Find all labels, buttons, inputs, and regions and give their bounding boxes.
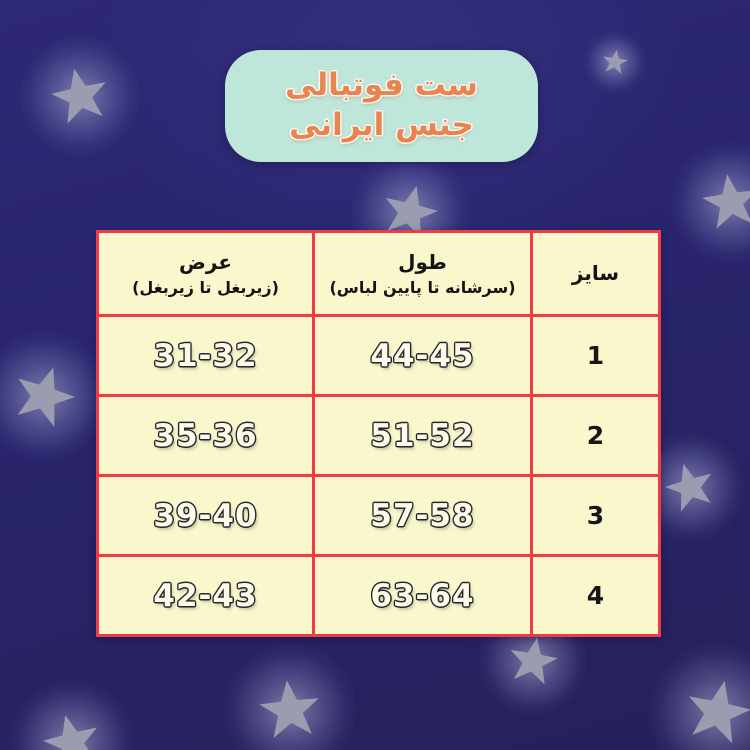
column-header-width-note: (زیربغل تا زیربغل) xyxy=(99,277,312,299)
star-icon xyxy=(10,680,134,750)
cell-length: 57-58 xyxy=(314,476,532,556)
cell-length: 44-45 xyxy=(314,316,532,396)
cell-width: 35-36 xyxy=(98,396,314,476)
star-shape xyxy=(46,62,115,131)
star-glow xyxy=(224,644,356,750)
star-icon xyxy=(0,331,109,461)
cell-width: 39-40 xyxy=(98,476,314,556)
cell-width: 42-43 xyxy=(98,556,314,636)
star-icon xyxy=(20,36,140,156)
table-header-row: سایز طول (سرشانه تا پایین لباس) عرض (زیر… xyxy=(98,232,660,316)
column-header-length: طول (سرشانه تا پایین لباس) xyxy=(314,232,532,316)
cell-size: 4 xyxy=(532,556,660,636)
star-icon xyxy=(224,644,356,750)
size-chart-table: سایز طول (سرشانه تا پایین لباس) عرض (زیر… xyxy=(96,230,661,637)
star-shape xyxy=(37,707,107,750)
star-glow xyxy=(20,36,140,156)
table-body: 1 44-45 31-32 2 51-52 35-36 3 57-58 39-4… xyxy=(98,316,660,636)
column-header-length-label: طول xyxy=(315,249,530,276)
cell-length: 51-52 xyxy=(314,396,532,476)
star-glow xyxy=(0,331,109,461)
title-card: ست فوتبالی جنس ایرانی xyxy=(225,50,538,162)
star-icon xyxy=(671,142,750,262)
cell-size: 2 xyxy=(532,396,660,476)
star-shape xyxy=(256,676,324,744)
column-header-size-label: سایز xyxy=(533,260,658,287)
table-row: 4 63-64 42-43 xyxy=(98,556,660,636)
cell-width: 31-32 xyxy=(98,316,314,396)
title-line-2: جنس ایرانی xyxy=(289,107,474,145)
title-line-1: ست فوتبالی xyxy=(285,67,478,105)
star-glow xyxy=(584,31,646,93)
star-shape xyxy=(659,456,721,518)
table-row: 3 57-58 39-40 xyxy=(98,476,660,556)
cell-size: 3 xyxy=(532,476,660,556)
star-shape xyxy=(504,632,562,690)
star-glow xyxy=(649,643,750,750)
star-shape xyxy=(698,169,750,235)
cell-length: 63-64 xyxy=(314,556,532,636)
star-shape xyxy=(679,673,750,750)
column-header-width-label: عرض xyxy=(99,249,312,276)
star-shape xyxy=(600,47,629,76)
column-header-width: عرض (زیربغل تا زیربغل) xyxy=(98,232,314,316)
star-shape xyxy=(5,357,83,435)
star-icon xyxy=(584,31,646,93)
star-glow xyxy=(671,142,750,262)
table-head: سایز طول (سرشانه تا پایین لباس) عرض (زیر… xyxy=(98,232,660,316)
table-row: 1 44-45 31-32 xyxy=(98,316,660,396)
poster-canvas: ست فوتبالی جنس ایرانی سایز طول (سرشانه ت… xyxy=(0,0,750,750)
table-row: 2 51-52 35-36 xyxy=(98,396,660,476)
cell-size: 1 xyxy=(532,316,660,396)
column-header-size: سایز xyxy=(532,232,660,316)
star-glow xyxy=(10,680,134,750)
column-header-length-note: (سرشانه تا پایین لباس) xyxy=(315,277,530,299)
star-icon xyxy=(649,643,750,750)
